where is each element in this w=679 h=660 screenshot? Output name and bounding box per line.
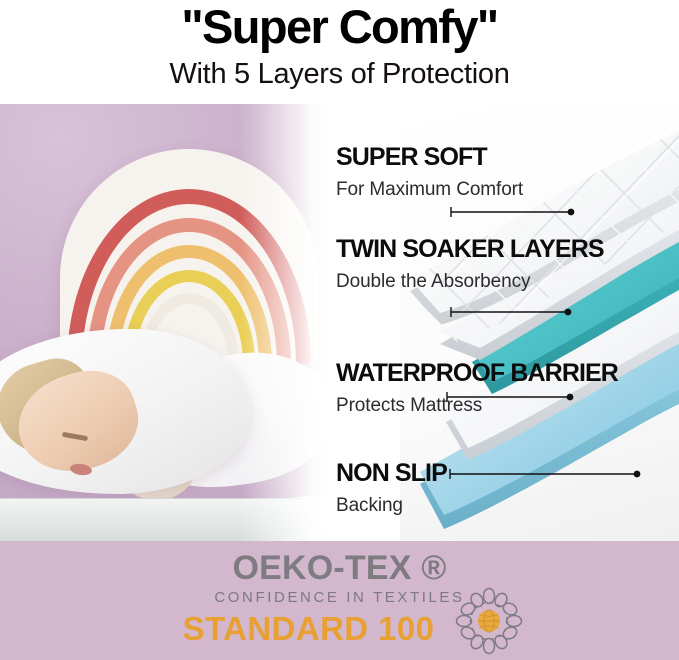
- product-photo: [0, 104, 330, 541]
- photo-edge-fade: [240, 104, 330, 541]
- oeko-tex-standard: STANDARD 100: [0, 607, 679, 651]
- page-title: "Super Comfy": [0, 0, 679, 55]
- oeko-tex-tagline: CONFIDENCE IN TEXTILES: [0, 588, 679, 608]
- feature-heading: WATERPROOF BARRIER: [336, 356, 546, 391]
- product-infographic: "Super Comfy" With 5 Layers of Protectio…: [0, 0, 679, 660]
- feature-description: For Maximum Comfort: [336, 175, 546, 204]
- oeko-tex-globe-emblem: [452, 585, 526, 657]
- feature-description: Backing: [336, 491, 546, 520]
- oeko-tex-wordmark: OEKO-TEX ®: [0, 547, 679, 589]
- oeko-tex-footer: OEKO-TEX ® CONFIDENCE IN TEXTILES STANDA…: [0, 541, 679, 660]
- feature-waterproof-barrier: WATERPROOF BARRIER Protects Mattress: [336, 356, 546, 420]
- feature-heading: TWIN SOAKER LAYERS: [336, 232, 546, 267]
- feature-heading: SUPER SOFT: [336, 140, 546, 175]
- feature-description: Protects Mattress: [336, 391, 546, 420]
- header: "Super Comfy" With 5 Layers of Protectio…: [0, 0, 679, 104]
- feature-twin-soaker-layers: TWIN SOAKER LAYERS Double the Absorbency: [336, 232, 546, 296]
- feature-super-soft: SUPER SOFT For Maximum Comfort: [336, 140, 546, 204]
- feature-heading: NON SLIP: [336, 456, 546, 491]
- feature-description: Double the Absorbency: [336, 267, 546, 296]
- emblem-globe: [478, 610, 500, 632]
- page-subtitle: With 5 Layers of Protection: [0, 55, 679, 93]
- feature-list: SUPER SOFT For Maximum Comfort TWIN SOAK…: [336, 104, 546, 541]
- feature-non-slip: NON SLIP Backing: [336, 456, 546, 520]
